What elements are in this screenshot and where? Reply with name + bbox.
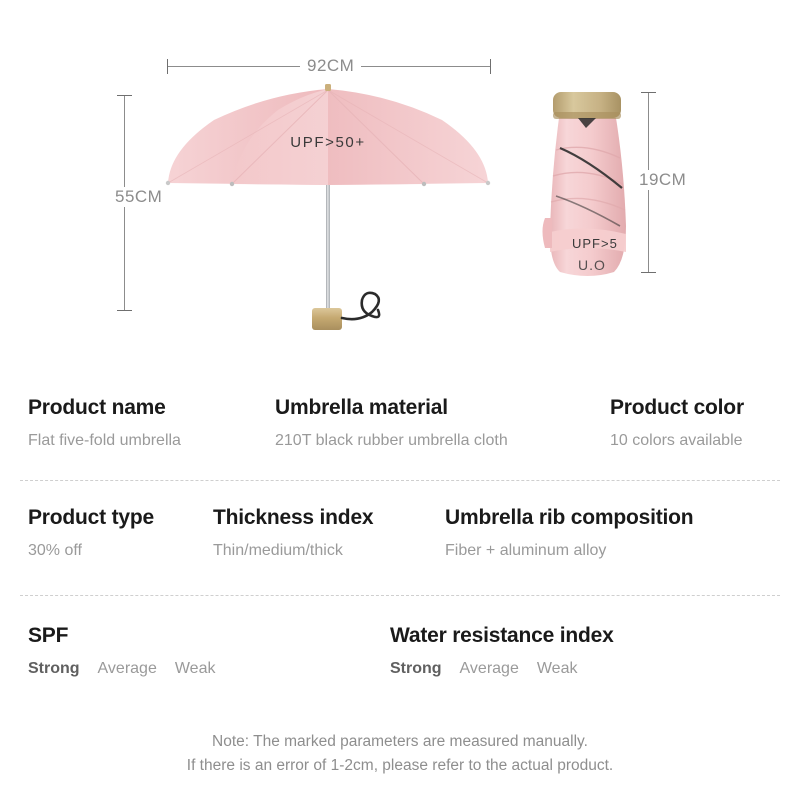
spec-row-1: Product name Flat five-fold umbrella Umb… — [0, 375, 800, 480]
measurement-note-line-2: If there is an error of 1-2cm, please re… — [0, 754, 800, 778]
spf-option-weak[interactable]: Weak — [175, 658, 216, 680]
spec-cell-thickness-index: Thickness index Thin/medium/thick — [213, 505, 373, 562]
spec-value-umbrella-material: 210T black rubber umbrella cloth — [275, 430, 508, 452]
spf-option-average[interactable]: Average — [98, 658, 157, 680]
spec-value-product-name: Flat five-fold umbrella — [28, 430, 181, 452]
spec-value-product-type: 30% off — [28, 540, 154, 562]
spec-cell-product-color: Product color 10 colors available — [610, 395, 744, 452]
spec-key-water-resistance: Water resistance index — [390, 623, 614, 649]
spec-key-spf: SPF — [28, 623, 215, 649]
folded-secondary-text: U.O — [578, 257, 606, 273]
specification-table: Product name Flat five-fold umbrella Umb… — [0, 375, 800, 705]
spec-cell-water-resistance: Water resistance index Strong Average We… — [390, 623, 614, 680]
spec-value-thickness-index: Thin/medium/thick — [213, 540, 373, 562]
spec-value-rib-composition: Fiber + aluminum alloy — [445, 540, 693, 562]
water-resistance-rating-group[interactable]: Strong Average Weak — [390, 658, 614, 680]
folded-upf-text: UPF>5 — [572, 236, 618, 251]
spec-value-product-color: 10 colors available — [610, 430, 744, 452]
canopy-upf-text: UPF>50+ — [290, 134, 365, 151]
wrist-strap — [342, 293, 379, 319]
umbrella-handle — [312, 308, 342, 330]
spec-key-product-color: Product color — [610, 395, 744, 421]
spec-row-2: Product type 30% off Thickness index Thi… — [0, 480, 800, 595]
spec-key-umbrella-material: Umbrella material — [275, 395, 508, 421]
spec-cell-product-type: Product type 30% off — [28, 505, 154, 562]
dimension-92cm-cap-right — [490, 59, 491, 74]
dimension-55cm-cap-bottom — [117, 310, 132, 311]
open-umbrella: UPF>50+ — [166, 84, 490, 330]
spec-key-thickness-index: Thickness index — [213, 505, 373, 531]
water-resistance-option-weak[interactable]: Weak — [537, 658, 578, 680]
product-image: UPF>50+ UPF>5 — [0, 0, 800, 375]
spf-rating-group[interactable]: Strong Average Weak — [28, 658, 215, 680]
measurement-note: Note: The marked parameters are measured… — [0, 730, 800, 778]
dimension-19cm-cap-top — [641, 92, 656, 93]
dimension-92cm-cap-left — [167, 59, 168, 74]
spec-cell-umbrella-material: Umbrella material 210T black rubber umbr… — [275, 395, 508, 452]
dimension-92cm-label: 92CM — [300, 56, 361, 76]
spec-cell-rib-composition: Umbrella rib composition Fiber + aluminu… — [445, 505, 693, 562]
spec-row-3: SPF Strong Average Weak Water resistance… — [0, 595, 800, 705]
spec-key-product-type: Product type — [28, 505, 154, 531]
dimension-55cm-cap-top — [117, 95, 132, 96]
dimension-19cm-cap-bottom — [641, 272, 656, 273]
spf-option-strong[interactable]: Strong — [28, 658, 80, 680]
water-resistance-option-average[interactable]: Average — [460, 658, 519, 680]
spec-cell-spf: SPF Strong Average Weak — [28, 623, 215, 680]
spec-key-rib-composition: Umbrella rib composition — [445, 505, 693, 531]
spec-key-product-name: Product name — [28, 395, 181, 421]
dimension-55cm-label: 55CM — [108, 187, 169, 207]
dimension-19cm-label: 19CM — [632, 170, 693, 190]
folded-umbrella: UPF>5 U.O — [543, 92, 627, 276]
measurement-note-line-1: Note: The marked parameters are measured… — [0, 730, 800, 754]
water-resistance-option-strong[interactable]: Strong — [390, 658, 442, 680]
spec-cell-product-name: Product name Flat five-fold umbrella — [28, 395, 181, 452]
